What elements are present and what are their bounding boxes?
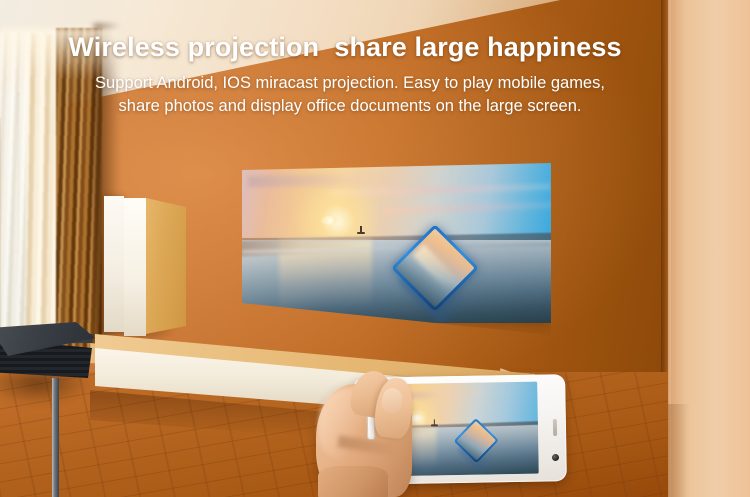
projected-screen <box>242 163 551 323</box>
wall-right-seam <box>668 404 690 497</box>
page-subtitle: Support Android, IOS miracast projection… <box>0 72 700 119</box>
wall-cabinet-door-left <box>104 196 124 332</box>
sun-icon <box>321 216 339 225</box>
wall-cabinet-side <box>146 198 186 334</box>
projection-sun-glow <box>285 189 390 243</box>
hand-wrist <box>318 466 388 497</box>
hand-holding-phone <box>316 362 584 497</box>
projector-stand-pole <box>52 378 59 497</box>
subtitle-line-2: share photos and display office document… <box>0 95 700 118</box>
subtitle-line-1: Support Android, IOS miracast projection… <box>0 72 700 95</box>
camera-lens-icon <box>552 454 559 461</box>
sailboat-icon <box>356 226 365 235</box>
promo-banner-scene: Wireless projection share large happines… <box>0 0 750 497</box>
speaker-grille-icon <box>553 419 557 436</box>
wall-cabinet-door-right <box>124 198 146 336</box>
sailboat-icon <box>431 419 438 427</box>
page-title: Wireless projection share large happines… <box>0 32 690 63</box>
